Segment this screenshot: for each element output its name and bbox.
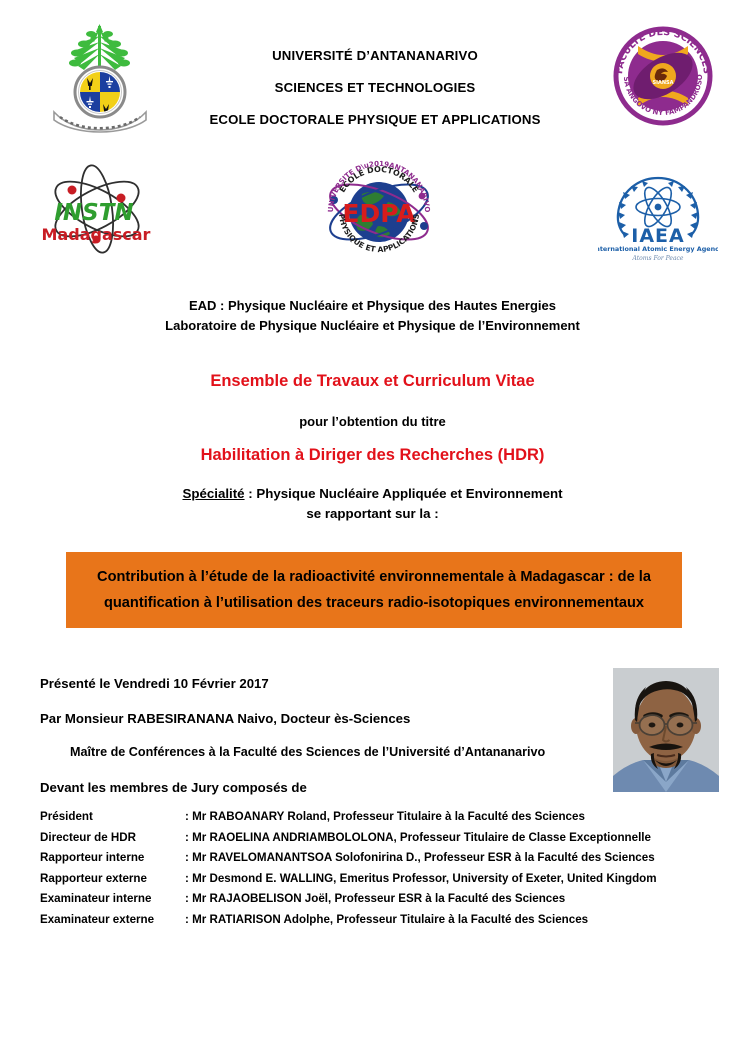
svg-text:International Atomic Energy Ag: International Atomic Energy Agency (598, 245, 718, 253)
thesis-title-banner: Contribution à l’étude de la radioactivi… (66, 552, 682, 628)
header-institution-titles: UNIVERSITÉ D’ANTANANARIVO SCIENCES ET TE… (160, 48, 590, 144)
jury-member-name: : Mr RAJAOBELISON Joël, Professeur ESR à… (185, 892, 565, 905)
table-row: Rapporteur externe : Mr Desmond E. WALLI… (40, 872, 720, 885)
jury-role: Rapporteur externe (40, 872, 185, 885)
jury-intro-line: Devant les membres de Jury composés de (40, 780, 307, 795)
relating-to-line: se rapportant sur la : (0, 504, 745, 524)
jury-role: Directeur de HDR (40, 831, 185, 844)
table-row: Directeur de HDR : Mr RAOELINA ANDRIAMBO… (40, 831, 720, 844)
logo-row-top: UNIVERSITÉ D’ANTANANARIVO SCIENCES ET TE… (0, 18, 745, 144)
svg-text:Atoms For Peace: Atoms For Peace (632, 255, 684, 262)
document-page: UNIVERSITÉ D’ANTANANARIVO SCIENCES ET TE… (0, 0, 745, 1053)
speciality-block: Spécialité : Physique Nucléaire Appliqué… (0, 484, 745, 524)
logo-row-second: INSTN Madagascar (0, 160, 745, 265)
jury-role: Président (40, 810, 185, 823)
header-line-university: UNIVERSITÉ D’ANTANANARIVO (160, 48, 590, 63)
speciality-value: : Physique Nucléaire Appliquée et Enviro… (245, 486, 563, 501)
jury-member-name: : Mr RABOANARY Roland, Professeur Titula… (185, 810, 585, 823)
svg-text:SIANSA: SIANSA (653, 80, 674, 86)
svg-text:INSTN: INSTN (54, 200, 133, 226)
table-row: Président : Mr RABOANARY Roland, Profess… (40, 810, 720, 823)
author-affiliation: Maître de Conférences à la Faculté des S… (70, 745, 545, 759)
works-title: Ensemble de Travaux et Curriculum Vitae (0, 372, 745, 391)
presentation-date: Présenté le Vendredi 10 Février 2017 (40, 676, 269, 691)
edpa-logo: EDPA UNIVERSITE D\u2019ANTANANARIVO ECOL… (322, 160, 436, 260)
jury-member-name: : Mr RATIARISON Adolphe, Professeur Titu… (185, 913, 588, 926)
degree-title: Habilitation à Diriger des Recherches (H… (0, 446, 745, 465)
jury-member-name: : Mr RAOELINA ANDRIAMBOLOLONA, Professeu… (185, 831, 651, 844)
jury-member-name: : Mr Desmond E. WALLING, Emeritus Profes… (185, 872, 657, 885)
author-line: Par Monsieur RABESIRANANA Naivo, Docteur… (40, 711, 410, 726)
ead-line: EAD : Physique Nucléaire et Physique des… (0, 296, 745, 316)
table-row: Rapporteur interne : Mr RAVELOMANANTSOA … (40, 851, 720, 864)
laboratory-line: Laboratoire de Physique Nucléaire et Phy… (0, 316, 745, 336)
faculte-des-sciences-logo: SIANSA FACULTE DES SCIENCES SIANSA ANGOV… (608, 20, 718, 132)
thesis-title-text: Contribution à l’étude de la radioactivi… (80, 564, 668, 616)
table-row: Examinateur interne : Mr RAJAOBELISON Jo… (40, 892, 720, 905)
iaea-logo: IAEA International Atomic Energy Agency … (598, 162, 718, 262)
jury-role: Examinateur externe (40, 913, 185, 926)
jury-member-name: : Mr RAVELOMANANTSOA Solofonirina D., Pr… (185, 851, 655, 864)
table-row: Examinateur externe : Mr RATIARISON Adol… (40, 913, 720, 926)
jury-role: Rapporteur interne (40, 851, 185, 864)
university-of-antananarivo-logo (46, 20, 154, 138)
speciality-line: Spécialité : Physique Nucléaire Appliqué… (0, 484, 745, 504)
svg-text:Madagascar: Madagascar (42, 225, 151, 244)
author-portrait-photo (613, 668, 719, 792)
header-line-sciences: SCIENCES ET TECHNOLOGIES (160, 80, 590, 95)
speciality-label: Spécialité (182, 486, 244, 501)
jury-members-table: Président : Mr RABOANARY Roland, Profess… (40, 810, 720, 933)
for-obtaining-subtitle: pour l’obtention du titre (0, 414, 745, 429)
svg-text:EDPA: EDPA (342, 199, 416, 228)
instn-madagascar-logo: INSTN Madagascar (38, 162, 156, 256)
ead-laboratory-block: EAD : Physique Nucléaire et Physique des… (0, 296, 745, 336)
jury-role: Examinateur interne (40, 892, 185, 905)
header-line-doctoral-school: ECOLE DOCTORALE PHYSIQUE ET APPLICATIONS (160, 112, 590, 127)
svg-text:IAEA: IAEA (631, 225, 684, 247)
